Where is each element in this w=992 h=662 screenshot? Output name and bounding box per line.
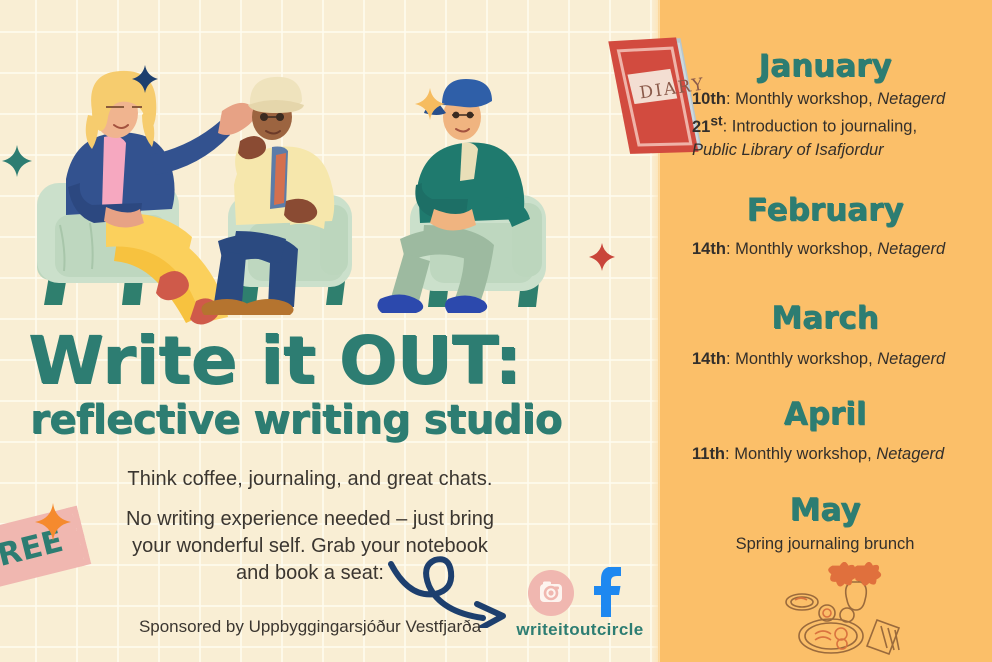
month-entries: 14th: Monthly workshop, Netagerd xyxy=(692,348,992,371)
sparkle-icon xyxy=(132,65,158,93)
month-heading: January xyxy=(658,48,992,84)
schedule-entry: 14th: Monthly workshop, Netagerd xyxy=(692,348,992,371)
month-heading: March xyxy=(658,300,992,336)
entry-day: 14th xyxy=(692,350,726,368)
entry-text: : Monthly workshop, xyxy=(726,90,877,108)
schedule-entry: 10th: Monthly workshop, Netagerd xyxy=(692,88,992,111)
month-entries: Spring journaling brunch xyxy=(658,533,992,556)
entry-day: 10th xyxy=(692,90,726,108)
entry-venue: Netagerd xyxy=(876,445,944,463)
entry-text: : Monthly workshop, xyxy=(725,445,876,463)
facebook-icon[interactable] xyxy=(588,566,628,618)
entry-text: : Monthly workshop, xyxy=(726,240,877,258)
month-entries: 14th: Monthly workshop, Netagerd xyxy=(692,238,992,261)
entry-day: 21st xyxy=(692,118,723,136)
month-heading: February xyxy=(658,192,992,228)
entry-venue: Netagerd xyxy=(877,90,945,108)
month-heading: May xyxy=(658,492,992,528)
sparkle-icon xyxy=(2,145,32,177)
people-in-armchairs-illustration xyxy=(0,55,620,330)
curly-arrow-icon xyxy=(385,548,530,628)
sparkle-icon xyxy=(35,503,71,541)
entry-venue: Netagerd xyxy=(877,240,945,258)
entry-text: : Monthly workshop, xyxy=(726,350,877,368)
poster-canvas: DIARY FREE Write it OUT: reflective writ… xyxy=(0,0,992,662)
instagram-icon[interactable] xyxy=(528,570,574,616)
schedule-entry: 21st: Introduction to journaling, xyxy=(692,111,992,139)
entry-venue: Public Library of Isafjordur xyxy=(692,141,884,159)
entry-text: : Introduction to journaling, xyxy=(723,118,917,136)
entry-text: Spring journaling brunch xyxy=(736,535,915,553)
entry-day: 14th xyxy=(692,240,726,258)
page-title: Write it OUT: xyxy=(28,330,521,393)
schedule-entry: 11th: Monthly workshop, Netagerd xyxy=(692,443,992,466)
sparkle-icon xyxy=(415,88,445,120)
month-heading: April xyxy=(658,396,992,432)
schedule-entry: Spring journaling brunch xyxy=(658,533,992,556)
tagline-text: Think coffee, journaling, and great chat… xyxy=(0,468,620,491)
month-entries: 10th: Monthly workshop, Netagerd21st: In… xyxy=(692,88,992,163)
entry-day: 11th xyxy=(692,445,725,463)
schedule-entry: 14th: Monthly workshop, Netagerd xyxy=(692,238,992,261)
page-subtitle: reflective writing studio xyxy=(30,400,562,440)
schedule-entry: Public Library of Isafjordur xyxy=(692,139,992,162)
month-entries: 11th: Monthly workshop, Netagerd xyxy=(692,443,992,466)
entry-day-suffix: st xyxy=(710,113,722,128)
entry-venue: Netagerd xyxy=(877,350,945,368)
sponsor-text: Sponsored by Uppbyggingarsjóður Vestfjar… xyxy=(0,617,620,637)
sparkle-icon xyxy=(589,243,615,271)
blurb-line-1: No writing experience needed – just brin… xyxy=(0,506,620,533)
brunch-doodle-icon xyxy=(785,562,945,662)
